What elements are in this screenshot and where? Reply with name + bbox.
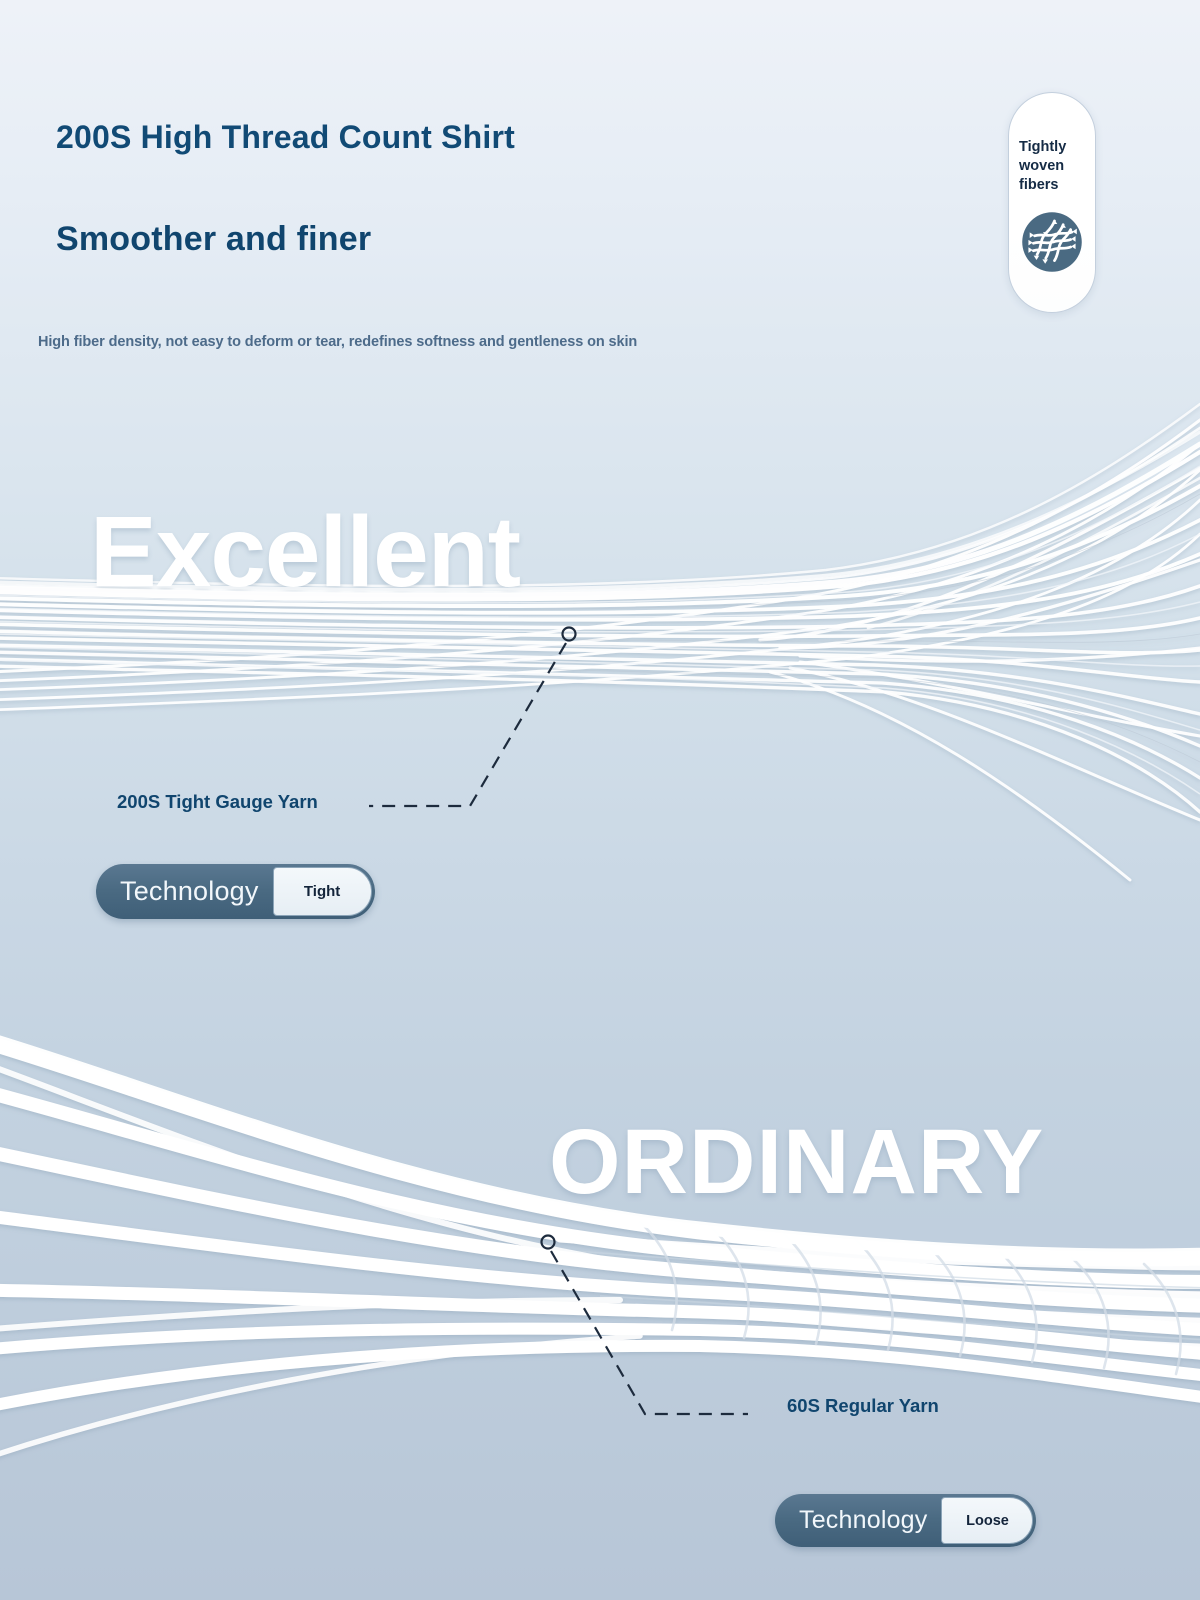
leader-path-top bbox=[369, 643, 566, 806]
callout-marker-top bbox=[563, 628, 576, 641]
tightly-woven-badge: Tightly woven fibers bbox=[1008, 92, 1096, 313]
callout-marker-bottom bbox=[542, 1236, 555, 1249]
technology-label-bottom: Technology bbox=[775, 1506, 941, 1535]
technology-value-loose: Loose bbox=[941, 1497, 1033, 1544]
callout-label-loose: 60S Regular Yarn bbox=[787, 1395, 939, 1417]
word-ordinary: ORDINARY bbox=[549, 1110, 1044, 1215]
page-title: 200S High Thread Count Shirt bbox=[56, 118, 515, 156]
page-subtitle-headline: Smoother and finer bbox=[56, 219, 515, 260]
badge-label: Tightly woven fibers bbox=[1019, 138, 1085, 195]
callout-label-tight: 200S Tight Gauge Yarn bbox=[117, 791, 318, 813]
poster-canvas: Excellent ORDINARY 200S High Thread Coun… bbox=[0, 0, 1200, 1600]
woven-fibers-icon bbox=[1021, 211, 1083, 273]
headline-block: 200S High Thread Count Shirt Smoother an… bbox=[56, 118, 515, 260]
technology-pill-loose[interactable]: Technology Loose bbox=[775, 1494, 1036, 1547]
technology-value-tight: Tight bbox=[273, 867, 372, 916]
leader-path-bottom bbox=[551, 1251, 748, 1414]
subtitle-text: High fiber density, not easy to deform o… bbox=[38, 334, 637, 350]
technology-pill-tight[interactable]: Technology Tight bbox=[96, 864, 375, 919]
word-excellent: Excellent bbox=[90, 495, 520, 610]
technology-label-top: Technology bbox=[96, 876, 273, 907]
